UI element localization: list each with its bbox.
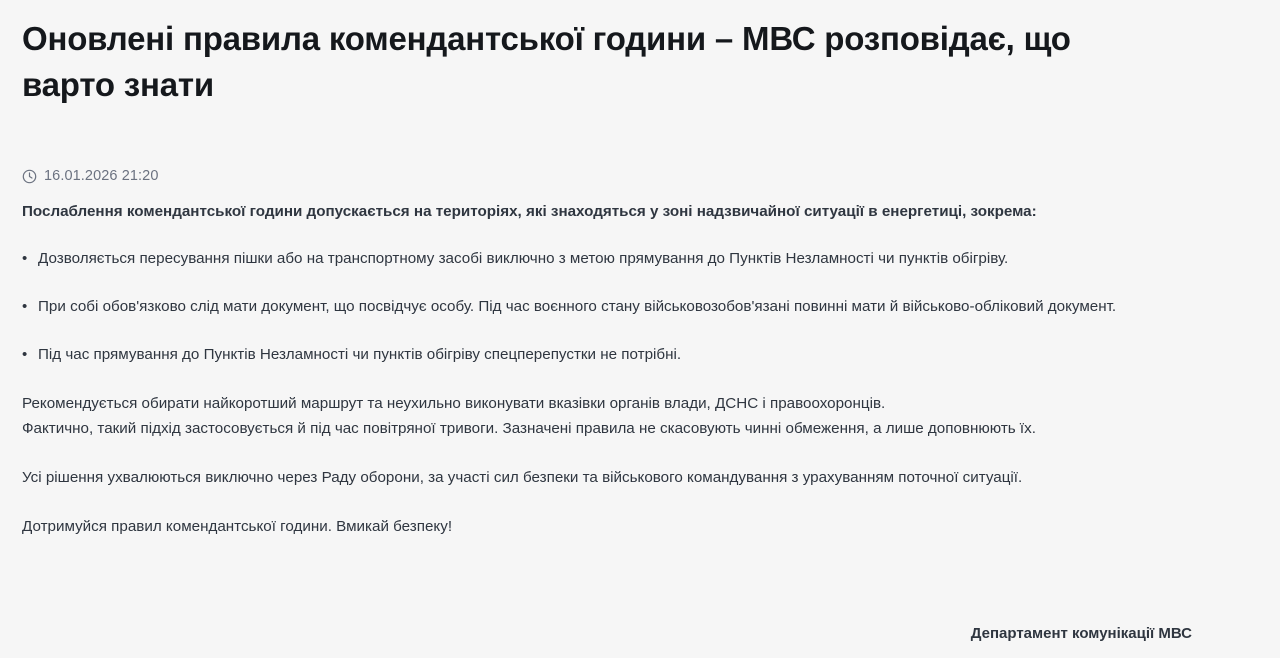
clock-icon	[22, 169, 37, 184]
closing-statement: Дотримуйся правил комендантської години.…	[22, 514, 1187, 539]
article-page: Оновлені правила комендантської години –…	[0, 0, 1280, 658]
rules-list: Дозволяється пересування пішки або на тр…	[22, 246, 1192, 367]
publish-timestamp: 16.01.2026 21:20	[44, 167, 159, 185]
list-item: При собі обов'язково слід мати документ,…	[22, 294, 1192, 319]
lead-paragraph: Послаблення комендантської години допуск…	[22, 201, 1192, 223]
body-paragraph-recommendation: Рекомендується обирати найкоротший маршр…	[22, 391, 1187, 416]
page-title: Оновлені правила комендантської години –…	[22, 0, 1142, 108]
list-item: Дозволяється пересування пішки або на тр…	[22, 246, 1192, 271]
signature-department: Департамент комунікації МВС	[971, 624, 1192, 644]
article-meta: 16.01.2026 21:20	[22, 166, 1192, 186]
body-paragraph-decisions: Усі рішення ухвалюються виключно через Р…	[22, 465, 1187, 490]
body-paragraph-air-alert: Фактично, такий підхід застосовується й …	[22, 416, 1187, 441]
list-item: Під час прямування до Пунктів Незламност…	[22, 342, 1192, 367]
